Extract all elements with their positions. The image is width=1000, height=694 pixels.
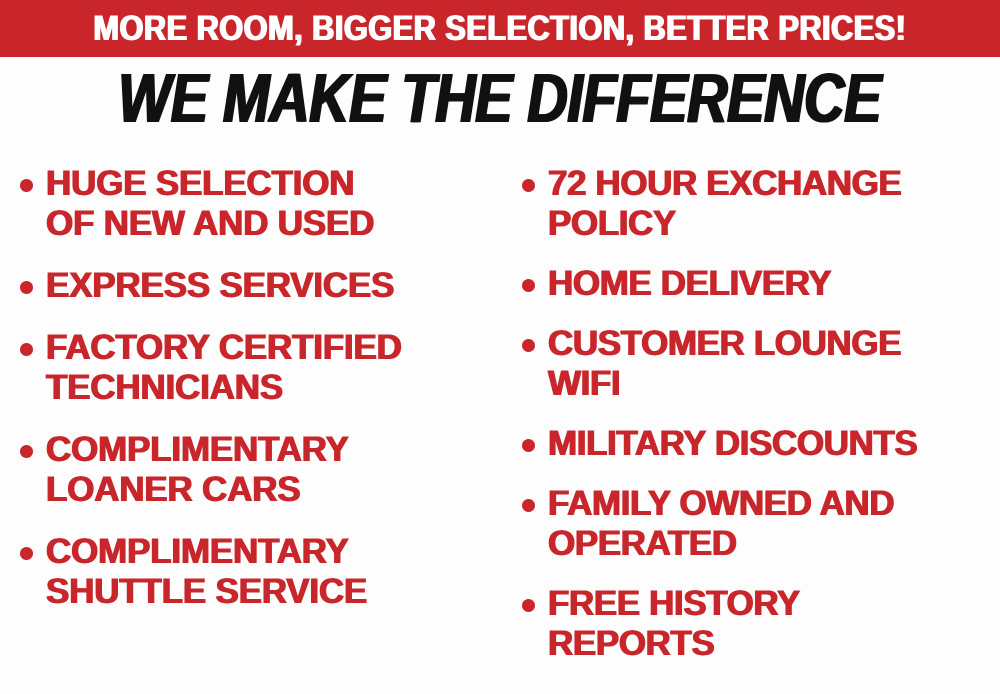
benefits-column-right: 72 HOUR EXCHANGE POLICY HOME DELIVERY CU… xyxy=(500,158,1000,694)
list-item: FACTORY CERTIFIED TECHNICIANS xyxy=(20,328,500,408)
list-item: EXPRESS SERVICES xyxy=(20,266,500,306)
promo-poster: MORE ROOM, BIGGER SELECTION, BETTER PRIC… xyxy=(0,0,1000,694)
bullet-dot-icon xyxy=(20,281,33,294)
list-item: MILITARY DISCOUNTS xyxy=(522,424,1000,464)
bullet-dot-icon xyxy=(522,339,535,352)
list-item: COMPLIMENTARY SHUTTLE SERVICE xyxy=(20,532,500,612)
bullet-dot-icon xyxy=(522,279,535,292)
bullet-dot-icon xyxy=(20,547,33,560)
list-item-label: EXPRESS SERVICES xyxy=(46,266,394,306)
list-item-label: COMPLIMENTARY SHUTTLE SERVICE xyxy=(46,532,367,612)
list-item-label: FREE HISTORY REPORTS xyxy=(548,584,800,664)
headline: WE MAKE THE DIFFERENCE xyxy=(0,62,1000,134)
list-item-label: HOME DELIVERY xyxy=(548,264,831,304)
list-item-label: CUSTOMER LOUNGE WIFI xyxy=(548,324,901,404)
list-item-label: HUGE SELECTION OF NEW AND USED xyxy=(46,164,374,244)
list-item-label: MILITARY DISCOUNTS xyxy=(548,424,917,464)
bullet-dot-icon xyxy=(522,599,535,612)
list-item: 72 HOUR EXCHANGE POLICY xyxy=(522,164,1000,244)
list-item-label: FACTORY CERTIFIED TECHNICIANS xyxy=(46,328,402,408)
list-item-label: FAMILY OWNED AND OPERATED xyxy=(548,484,894,564)
list-item: FAMILY OWNED AND OPERATED xyxy=(522,484,1000,564)
headline-text: WE MAKE THE DIFFERENCE xyxy=(119,62,882,134)
top-banner: MORE ROOM, BIGGER SELECTION, BETTER PRIC… xyxy=(0,0,1000,57)
bullet-dot-icon xyxy=(20,445,33,458)
benefits-column-left: HUGE SELECTION OF NEW AND USED EXPRESS S… xyxy=(0,158,500,694)
list-item: COMPLIMENTARY LOANER CARS xyxy=(20,430,500,510)
bullet-dot-icon xyxy=(20,343,33,356)
list-item: HUGE SELECTION OF NEW AND USED xyxy=(20,164,500,244)
bullet-dot-icon xyxy=(522,179,535,192)
list-item-label: COMPLIMENTARY LOANER CARS xyxy=(46,430,349,510)
benefits-columns: HUGE SELECTION OF NEW AND USED EXPRESS S… xyxy=(0,158,1000,694)
bullet-dot-icon xyxy=(522,439,535,452)
top-banner-text: MORE ROOM, BIGGER SELECTION, BETTER PRIC… xyxy=(94,11,907,46)
list-item-label: 72 HOUR EXCHANGE POLICY xyxy=(548,164,901,244)
list-item: FREE HISTORY REPORTS xyxy=(522,584,1000,664)
bullet-dot-icon xyxy=(522,499,535,512)
list-item: CUSTOMER LOUNGE WIFI xyxy=(522,324,1000,404)
bullet-dot-icon xyxy=(20,179,33,192)
list-item: HOME DELIVERY xyxy=(522,264,1000,304)
